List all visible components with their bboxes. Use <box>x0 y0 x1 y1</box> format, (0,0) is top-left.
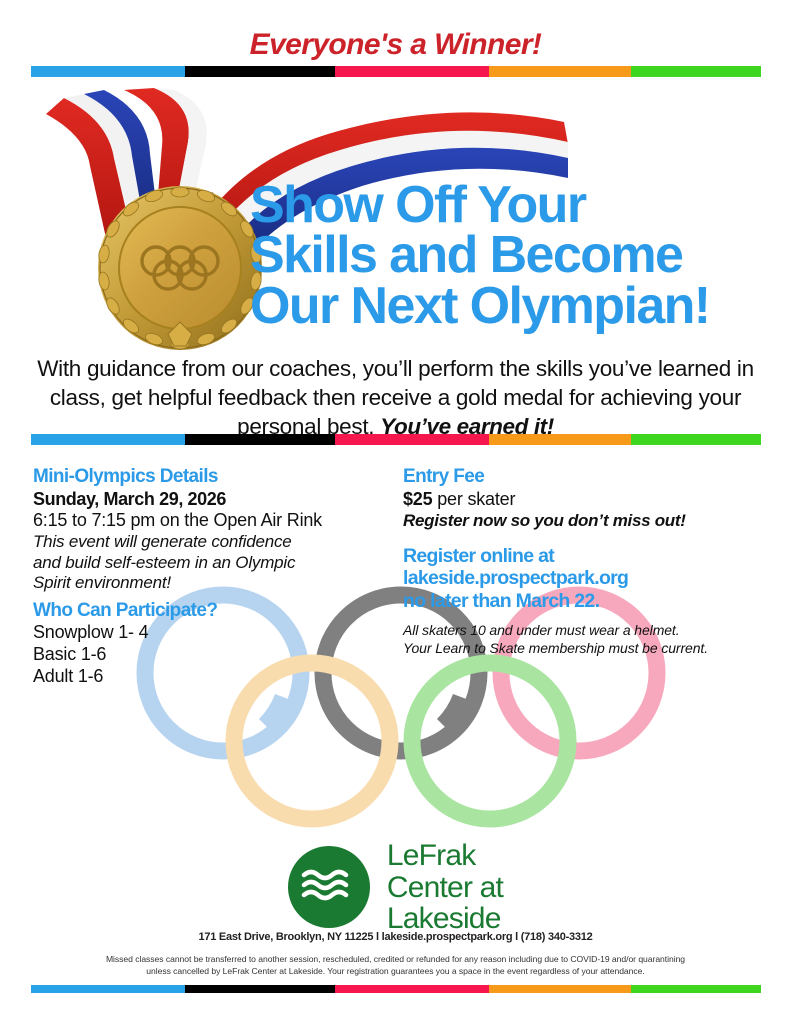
participate-level-1: Snowplow 1- 4 <box>33 622 383 644</box>
footer-disclaimer: Missed classes cannot be transferred to … <box>60 953 731 977</box>
participate-level-3: Adult 1-6 <box>33 666 383 688</box>
ring-green <box>412 663 568 819</box>
logo-line-2: Center at <box>387 872 503 904</box>
color-bar-segment-blue <box>31 985 185 993</box>
color-bar-segment-blue <box>31 434 185 445</box>
right-column: Entry Fee $25 per skater Register now so… <box>403 466 763 658</box>
details-blurb-line-1: This event will generate confidence <box>33 532 383 552</box>
entry-fee-urgency: Register now so you don’t miss out! <box>403 511 763 531</box>
color-bar-segment-black <box>185 434 335 445</box>
lefrak-logo: LeFrak Center at Lakeside <box>0 840 791 935</box>
register-url[interactable]: lakeside.prospectpark.org <box>403 567 763 589</box>
color-bar-segment-orange <box>489 66 631 77</box>
entry-fee-heading: Entry Fee <box>403 466 763 488</box>
entry-fee-amount-line: $25 per skater <box>403 489 763 511</box>
entry-fee-amount: $25 <box>403 489 432 509</box>
disclaimer-line-1: Missed classes cannot be transferred to … <box>60 953 731 965</box>
headline-line-3: Our Next Olympian! <box>250 281 780 331</box>
left-column: Mini-Olympics Details Sunday, March 29, … <box>33 466 383 688</box>
color-bar-segment-orange <box>489 985 631 993</box>
disclaimer-line-2: unless cancelled by LeFrak Center at Lak… <box>60 965 731 977</box>
headline-line-2: Skills and Become <box>250 230 780 280</box>
details-blurb-line-2: and build self-esteem in an Olympic <box>33 553 383 573</box>
spacer <box>403 612 763 622</box>
participate-level-2: Basic 1-6 <box>33 644 383 666</box>
participate-heading: Who Can Participate? <box>33 600 383 622</box>
lefrak-logo-text: LeFrak Center at Lakeside <box>387 840 503 935</box>
medal-olympic-rings <box>142 247 218 289</box>
color-bar-bottom <box>31 985 761 993</box>
color-bar-segment-orange <box>489 434 631 445</box>
tagline: Everyone's a Winner! <box>0 28 791 62</box>
color-bar-segment-pink <box>335 66 489 77</box>
flyer-page: Everyone's a Winner! <box>0 0 791 1024</box>
register-deadline: no later than March 22. <box>403 590 763 612</box>
headline-line-1: Show Off Your <box>250 180 780 230</box>
requirement-helmet: All skaters 10 and under must wear a hel… <box>403 622 763 640</box>
spacer <box>403 531 763 545</box>
waves-icon <box>288 846 370 928</box>
intro-paragraph: With guidance from our coaches, you’ll p… <box>28 355 763 441</box>
requirements-block: All skaters 10 and under must wear a hel… <box>403 622 763 658</box>
register-link-block[interactable]: Register online at lakeside.prospectpark… <box>403 545 763 612</box>
medal-disc <box>98 186 263 350</box>
medal-ribbon-left <box>46 90 164 274</box>
color-bar-segment-blue <box>31 66 185 77</box>
details-blurb-line-3: Spirit environment! <box>33 573 383 593</box>
medal-ribbon-fold <box>124 88 207 270</box>
details-heading: Mini-Olympics Details <box>33 466 383 488</box>
color-bar-segment-black <box>185 985 335 993</box>
requirement-membership: Your Learn to Skate membership must be c… <box>403 640 763 658</box>
color-bar-segment-pink <box>335 985 489 993</box>
details-time: 6:15 to 7:15 pm on the Open Air Rink <box>33 510 383 532</box>
waves-icon-svg <box>300 867 358 907</box>
color-bar-segment-green <box>631 434 761 445</box>
color-bar-middle <box>31 434 761 445</box>
color-bar-top <box>31 66 761 77</box>
color-bar-segment-pink <box>335 434 489 445</box>
entry-fee-suffix: per skater <box>432 489 515 509</box>
logo-line-1: LeFrak <box>387 840 503 872</box>
color-bar-segment-green <box>631 66 761 77</box>
page-title: Show Off Your Skills and Become Our Next… <box>250 180 780 331</box>
color-bar-segment-black <box>185 66 335 77</box>
details-date: Sunday, March 29, 2026 <box>33 489 383 511</box>
color-bar-segment-green <box>631 985 761 993</box>
logo-line-3: Lakeside <box>387 903 503 935</box>
details-blurb: This event will generate confidence and … <box>33 532 383 593</box>
register-line-1: Register online at <box>403 545 763 567</box>
